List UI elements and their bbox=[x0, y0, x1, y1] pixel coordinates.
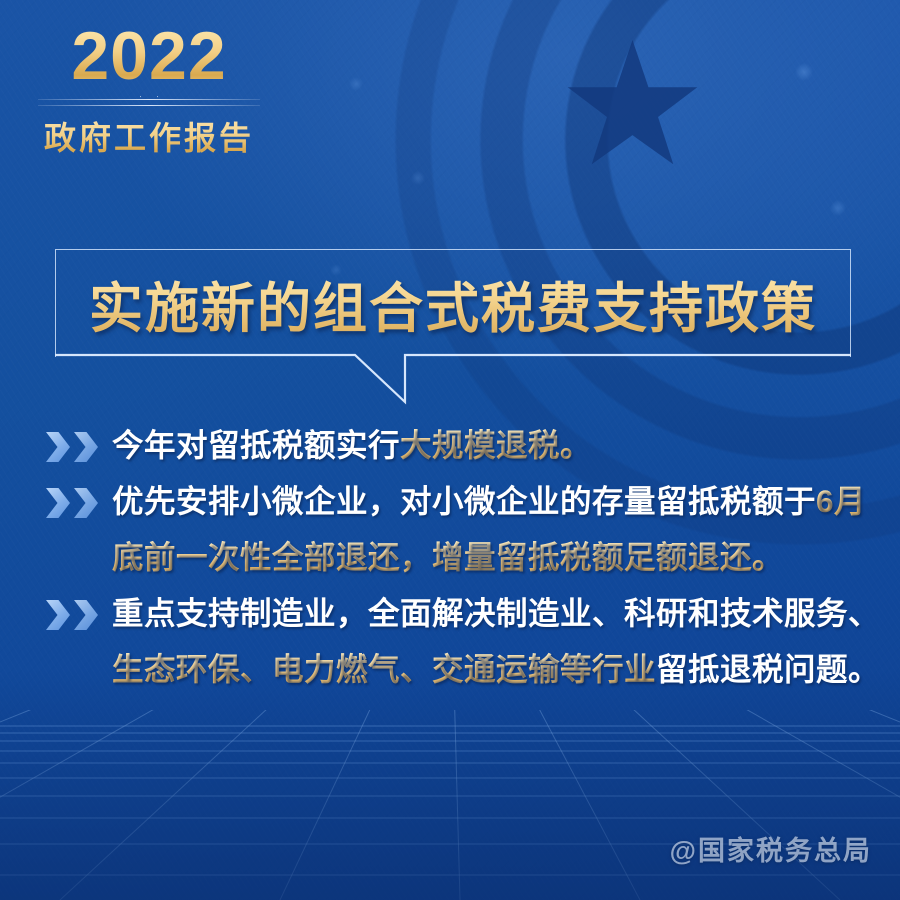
chevron-spacer bbox=[46, 642, 112, 696]
bullet-line-text: 生态环保、电力燃气、交通运输等行业留抵退税问题。 bbox=[112, 642, 880, 696]
report-header: 2022 政府工作报告 bbox=[34, 22, 264, 159]
v-divider-icon bbox=[34, 95, 264, 111]
list-item: 重点支持制造业，全面解决制造业、科研和技术服务、 bbox=[46, 586, 866, 640]
double-chevron-icon bbox=[46, 474, 112, 528]
list-item: 今年对留抵税额实行大规模退税。 bbox=[46, 418, 866, 472]
bullet-list: 今年对留抵税额实行大规模退税。 优先安排小微企业，对小微企业的存量留抵税额于6月… bbox=[46, 418, 866, 698]
watermark-label: @国家税务总局 bbox=[670, 829, 872, 868]
list-item-continuation: 生态环保、电力燃气、交通运输等行业留抵退税问题。 bbox=[46, 642, 866, 696]
double-chevron-icon bbox=[46, 418, 112, 472]
title-banner: 实施新的组合式税费支持政策 bbox=[55, 249, 851, 357]
poster-canvas: 2022 政府工作报告 实施新的组合式税费支持政策 今年对留抵税额实行大规模退税… bbox=[0, 0, 900, 900]
title-text: 实施新的组合式税费支持政策 bbox=[55, 249, 851, 357]
list-item: 优先安排小微企业，对小微企业的存量留抵税额于6月 bbox=[46, 474, 866, 528]
bullet-line-text: 优先安排小微企业，对小微企业的存量留抵税额于6月 bbox=[112, 474, 866, 528]
report-subtitle: 政府工作报告 bbox=[34, 113, 264, 159]
perspective-grid-icon bbox=[0, 710, 900, 900]
bullet-line-text: 底前一次性全部退还，增量留抵税额足额退还。 bbox=[112, 530, 866, 584]
double-chevron-icon bbox=[46, 586, 112, 640]
bullet-line-text: 今年对留抵税额实行大规模退税。 bbox=[112, 418, 866, 472]
year-heading: 2022 bbox=[34, 22, 264, 90]
list-item-continuation: 底前一次性全部退还，增量留抵税额足额退还。 bbox=[46, 530, 866, 584]
chevron-spacer bbox=[46, 530, 112, 584]
bullet-line-text: 重点支持制造业，全面解决制造业、科研和技术服务、 bbox=[112, 586, 880, 640]
